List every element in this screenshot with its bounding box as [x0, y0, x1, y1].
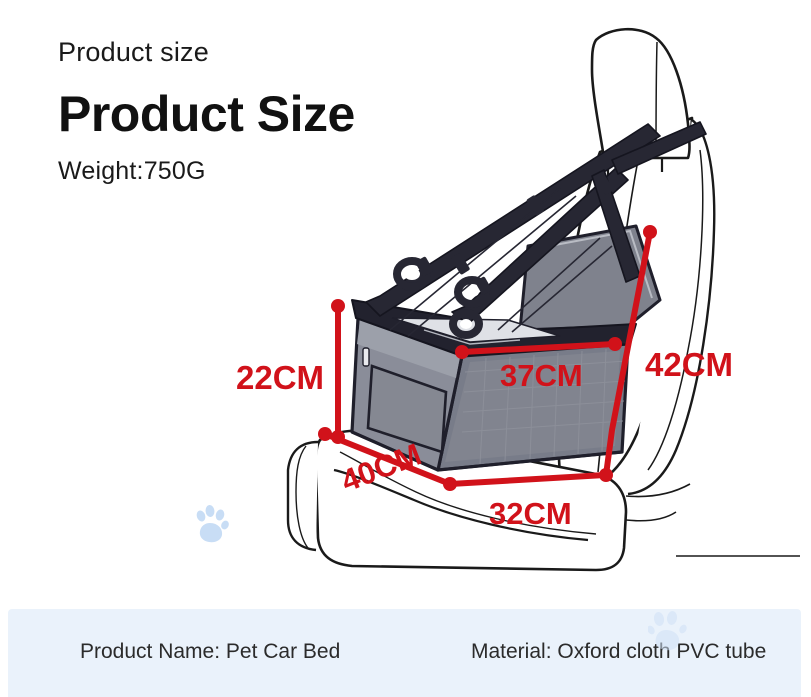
paw-print-icon — [193, 503, 229, 545]
dimension-label-37cm: 37CM — [500, 360, 583, 391]
footer-material: Material: Oxford cloth PVC tube — [471, 640, 766, 664]
paw-print-icon — [648, 606, 688, 652]
dimension-label-42cm: 42CM — [645, 348, 733, 381]
product-size-infographic: Product size Product Size Weight:750G — [0, 0, 811, 697]
strap-buckle-icon — [453, 313, 479, 335]
dimension-label-32cm: 32CM — [489, 498, 572, 529]
dimension-label-22cm: 22CM — [236, 361, 324, 394]
product-illustration — [0, 0, 811, 620]
footer-product-name: Product Name: Pet Car Bed — [80, 640, 340, 664]
